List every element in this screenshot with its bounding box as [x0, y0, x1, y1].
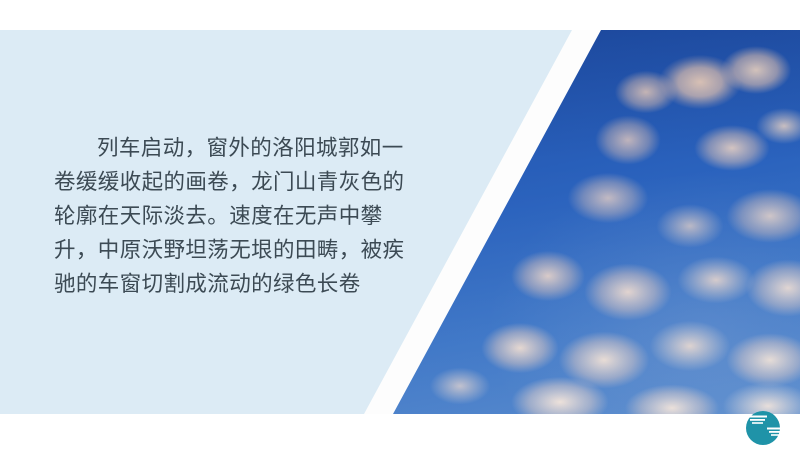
slide-canvas: 列车启动，窗外的洛阳城郭如一卷缓缓收起的画卷，龙门山青灰色的轮廓在天际淡去。速度… [0, 0, 800, 450]
teal-circle-logo-icon [741, 406, 785, 450]
text-block: 列车启动，窗外的洛阳城郭如一卷缓缓收起的画卷，龙门山青灰色的轮廓在天际淡去。速度… [54, 131, 410, 301]
teal-circle-logo [741, 406, 785, 450]
bottom-margin-band [0, 414, 800, 450]
top-margin-band [0, 0, 800, 30]
body-paragraph: 列车启动，窗外的洛阳城郭如一卷缓缓收起的画卷，龙门山青灰色的轮廓在天际淡去。速度… [54, 131, 410, 301]
